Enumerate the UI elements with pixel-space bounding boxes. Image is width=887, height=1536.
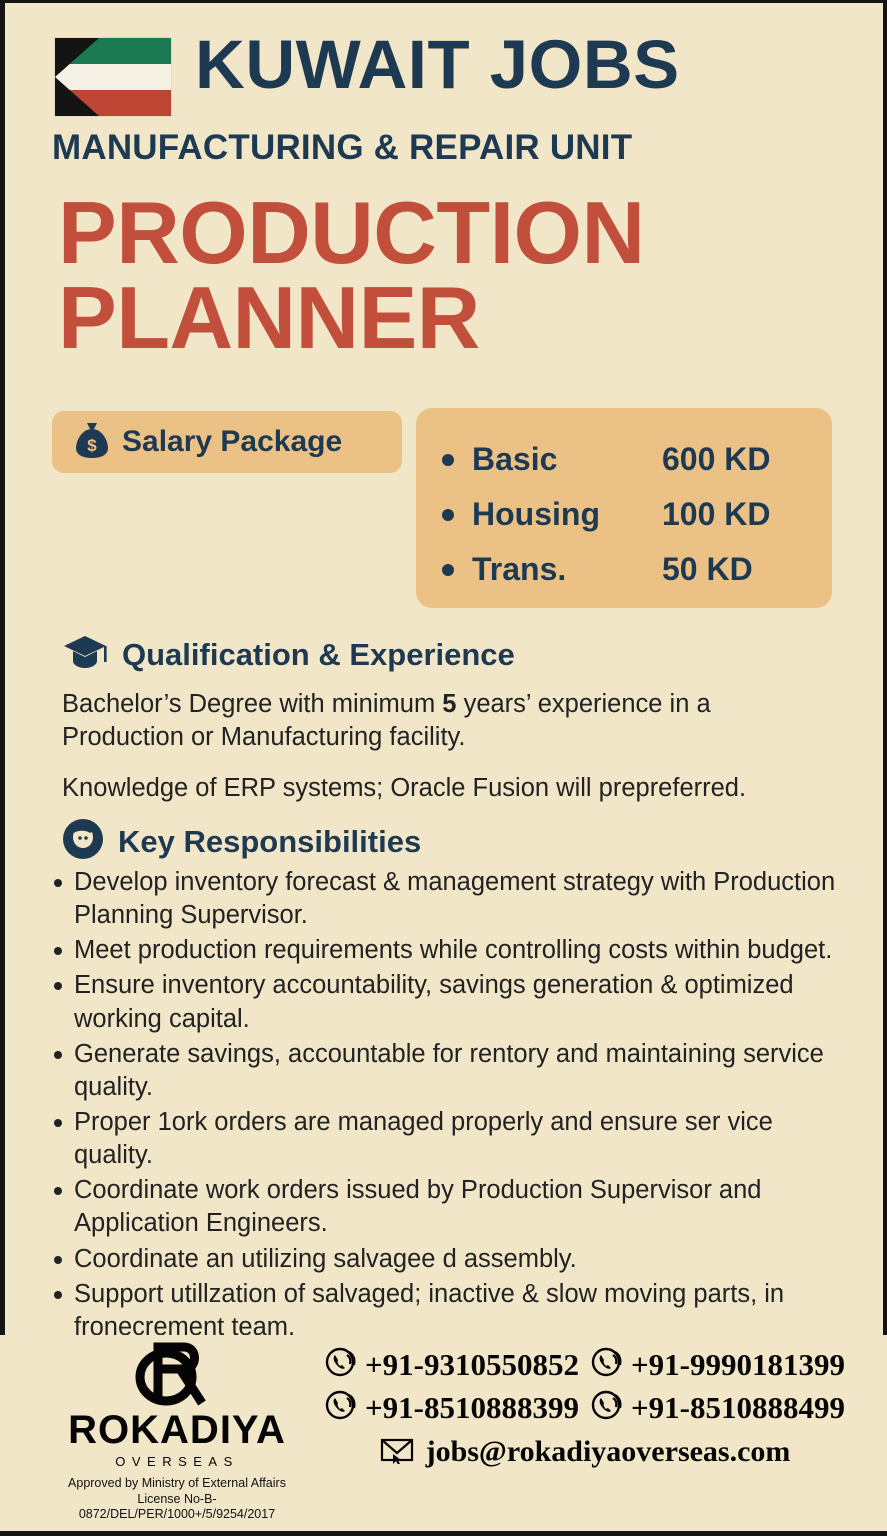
phone-row: +91-9310550852 +91-9990181399 [300, 1345, 870, 1384]
phone-number: +91-8510888399 [365, 1390, 579, 1426]
list-item: Coordinate work orders issued by Product… [48, 1174, 848, 1240]
phone-contact[interactable]: +91-9310550852 [325, 1345, 579, 1384]
list-item: Develop inventory forecast & management … [48, 866, 848, 932]
company-name: ROKADIYA [52, 1410, 302, 1450]
job-title-line2: PLANNER [58, 275, 645, 360]
page-title: KUWAIT JOBS [195, 32, 680, 98]
poster-subtitle: MANUFACTURING & REPAIR UNIT [52, 128, 632, 168]
phone-number: +91-9990181399 [631, 1347, 845, 1383]
job-title: PRODUCTION PLANNER [58, 190, 645, 361]
list-item: Proper 1ork orders are managed properly … [48, 1106, 848, 1172]
company-logo-block: ROKADIYA OVERSEAS Approved by Ministry o… [52, 1337, 302, 1523]
salary-item-name: Trans. [472, 551, 662, 588]
ministry-approval-text: Approved by Ministry of External Affairs [52, 1476, 302, 1492]
salary-item-amount: 600 KD [662, 441, 771, 478]
poster-footer: ROKADIYA OVERSEAS Approved by Ministry o… [0, 1335, 887, 1531]
qualification-body: Bachelor’s Degree with minimum 5 years’ … [62, 688, 822, 823]
salary-item-name: Basic [472, 441, 662, 478]
bullet-dot-icon [442, 454, 454, 466]
qualification-heading: Qualification & Experience [122, 637, 515, 673]
responsibilities-heading: Key Responsibilities [118, 824, 421, 860]
salary-item-name: Housing [472, 496, 662, 533]
qual-para1-pre: Bachelor’s Degree with minimum [62, 690, 442, 718]
job-poster: KUWAIT JOBS MANUFACTURING & REPAIR UNIT … [0, 0, 887, 1536]
svg-text:$: $ [87, 436, 97, 455]
poster-border-left [0, 0, 5, 1340]
list-item: Meet production requirements while contr… [48, 934, 848, 967]
list-item: Coordinate an utilizing salvagee d assem… [48, 1243, 848, 1276]
responsibilities-list: Develop inventory forecast & management … [48, 866, 848, 1381]
list-item: Generate savings, accountable for rentor… [48, 1038, 848, 1104]
company-tagline: OVERSEAS [52, 1454, 302, 1469]
phone-contact[interactable]: +91-8510888499 [591, 1388, 845, 1427]
salary-row: Housing 100 KD [416, 487, 832, 542]
list-item: Ensure inventory accountability, savings… [48, 969, 848, 1035]
poster-border-bottom [0, 1531, 887, 1536]
salary-package-label: Salary Package [122, 425, 342, 459]
salary-item-amount: 100 KD [662, 496, 771, 533]
responsibilities-section-header: Key Responsibilities [62, 818, 421, 865]
money-bag-icon: $ [74, 420, 110, 465]
salary-package-badge: $ Salary Package [52, 411, 402, 473]
bullet-dot-icon [442, 564, 454, 576]
envelope-icon [380, 1436, 416, 1469]
license-number-text: License No-B-0872/DEL/PER/1000+/5/9254/2… [52, 1492, 302, 1523]
phone-icon [591, 1345, 625, 1384]
phone-icon [325, 1388, 359, 1427]
phone-number: +91-8510888499 [631, 1390, 845, 1426]
poster-header: KUWAIT JOBS [55, 32, 845, 116]
phone-row: +91-8510888399 +91-8510888499 [300, 1388, 870, 1427]
qualification-paragraph-1: Bachelor’s Degree with minimum 5 years’ … [62, 688, 822, 754]
qualification-section-header: Qualification & Experience [62, 634, 515, 675]
salary-item-amount: 50 KD [662, 551, 753, 588]
graduation-cap-icon [62, 634, 108, 675]
poster-border-right [883, 0, 887, 1536]
kuwait-flag-icon [55, 38, 171, 116]
contact-block: +91-9310550852 +91-9990181399 [300, 1345, 870, 1469]
phone-contact[interactable]: +91-8510888399 [325, 1388, 579, 1427]
phone-icon [591, 1388, 625, 1427]
phone-contact[interactable]: +91-9990181399 [591, 1345, 845, 1384]
rokadiya-monogram-logo [52, 1337, 302, 1414]
person-badge-icon [62, 818, 104, 865]
salary-details-box: Basic 600 KD Housing 100 KD Trans. 50 KD [416, 408, 832, 608]
salary-row: Trans. 50 KD [416, 542, 832, 597]
email-contact[interactable]: jobs@rokadiyaoverseas.com [300, 1435, 870, 1469]
qualification-paragraph-2: Knowledge of ERP systems; Oracle Fusion … [62, 772, 822, 805]
bullet-dot-icon [442, 509, 454, 521]
salary-row: Basic 600 KD [416, 432, 832, 487]
email-address: jobs@rokadiyaoverseas.com [426, 1435, 791, 1469]
phone-icon [325, 1345, 359, 1384]
job-title-line1: PRODUCTION [58, 183, 645, 282]
phone-number: +91-9310550852 [365, 1347, 579, 1383]
qual-para1-bold: 5 [442, 690, 456, 718]
poster-border-top [0, 0, 887, 3]
